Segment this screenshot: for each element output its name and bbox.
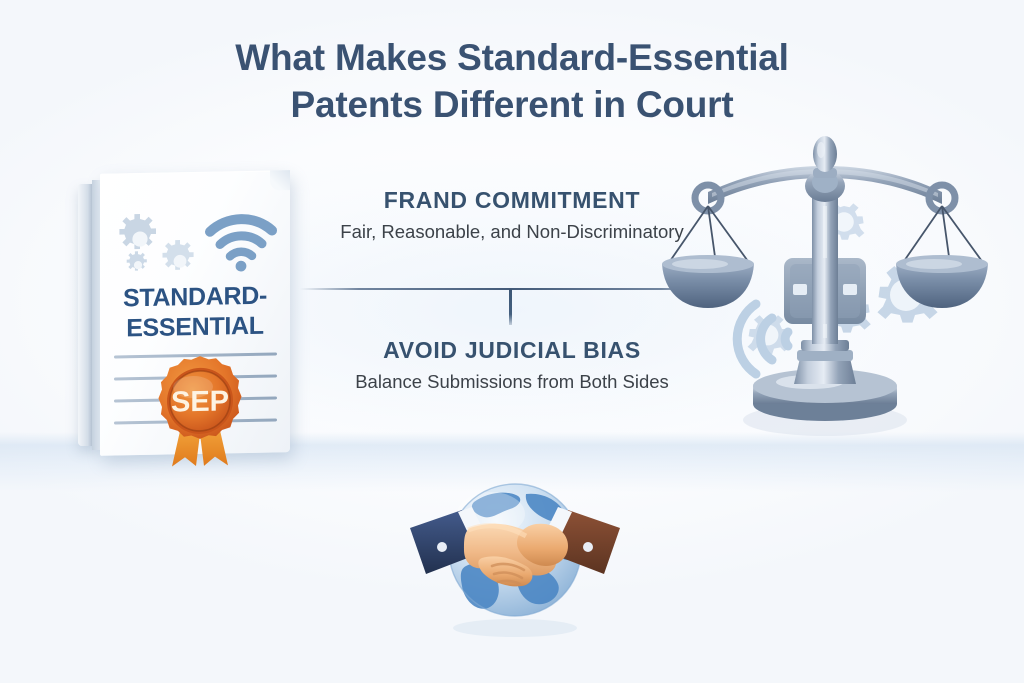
scales-pedestal	[794, 340, 856, 384]
document-icons	[112, 194, 282, 275]
judicial-bias-subtext: Balance Submissions from Both Sides	[312, 370, 712, 394]
page-title-line-1: What Makes Standard-Essential	[152, 34, 872, 81]
text-block-frand: FRAND COMMITMENT Fair, Reasonable, and N…	[312, 186, 712, 244]
infographic-canvas: What Makes Standard-Essential Patents Di…	[0, 0, 1024, 683]
scales-pan-right	[896, 206, 988, 308]
wifi-icon	[210, 219, 272, 273]
section-divider	[300, 288, 720, 334]
seal-label: SEP	[171, 385, 229, 418]
document-title-line-2: ESSENTIAL	[100, 310, 290, 344]
scales-of-justice-icon	[660, 136, 990, 442]
frand-subtext: Fair, Reasonable, and Non-Discriminatory	[312, 220, 712, 244]
text-block-judicial-bias: AVOID JUDICIAL BIAS Balance Submissions …	[312, 336, 712, 394]
document-title: STANDARD- ESSENTIAL	[100, 280, 290, 344]
divider-vertical-tick	[509, 289, 512, 325]
scales-pan-left	[662, 206, 754, 308]
document-title-line-1: STANDARD-	[100, 280, 290, 314]
sep-seal-badge: SEP	[152, 353, 248, 471]
standard-essential-document: STANDARD- ESSENTIAL	[78, 172, 310, 454]
gear-icon	[163, 240, 194, 270]
globe-handshake-icon	[408, 462, 622, 638]
frand-heading: FRAND COMMITMENT	[312, 186, 712, 214]
page-title-line-2: Patents Different in Court	[152, 81, 872, 128]
scales-center-plate	[784, 258, 866, 324]
gear-icon	[127, 251, 147, 271]
page-title: What Makes Standard-Essential Patents Di…	[152, 34, 872, 128]
judicial-bias-heading: AVOID JUDICIAL BIAS	[312, 336, 712, 364]
document-content: STANDARD- ESSENTIAL	[100, 170, 290, 456]
globe-shadow	[453, 619, 577, 637]
gear-icon	[119, 214, 156, 250]
